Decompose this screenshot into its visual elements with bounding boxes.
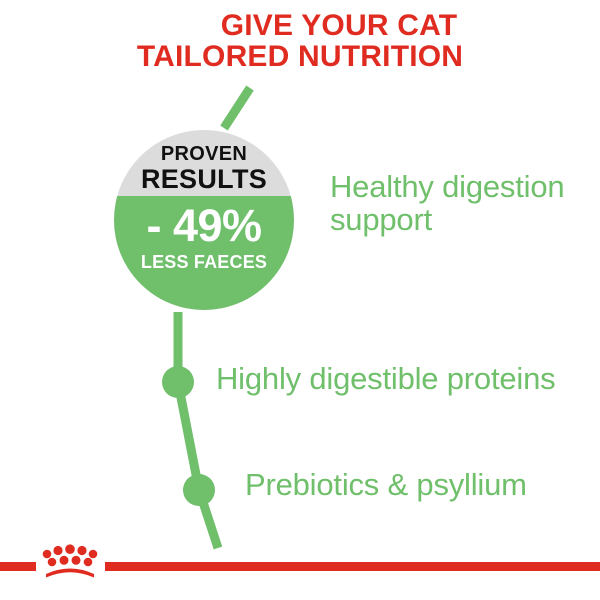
promo-infographic: GIVE YOUR CAT TAILORED NUTRITION PROVEN …	[0, 0, 600, 600]
crown-icon	[38, 544, 102, 580]
benefit-item-3: Prebiotics & psyllium	[245, 468, 600, 501]
badge-top-label: PROVEN RESULTS	[114, 143, 294, 193]
connector-line-segment-2	[178, 382, 199, 490]
benefit-item-1: Healthy digestion support	[330, 170, 590, 236]
badge-bottom-label: - 49% LESS FAECES	[114, 200, 294, 272]
connector-line-top	[224, 88, 250, 128]
connector-graphic	[0, 0, 600, 600]
brand-footer	[0, 560, 600, 600]
brand-rule-left	[0, 562, 36, 571]
connector-node-2	[183, 474, 215, 506]
badge-proven-label: PROVEN	[114, 143, 294, 165]
brand-rule-right	[105, 562, 600, 571]
badge-percentage-value: - 49%	[114, 200, 294, 252]
badge-results-label: RESULTS	[114, 165, 294, 193]
badge-caption: LESS FAECES	[114, 252, 294, 272]
proven-results-badge: PROVEN RESULTS - 49% LESS FAECES	[114, 130, 294, 310]
connector-node-1	[162, 366, 194, 398]
benefit-item-2: Highly digestible proteins	[216, 362, 596, 395]
